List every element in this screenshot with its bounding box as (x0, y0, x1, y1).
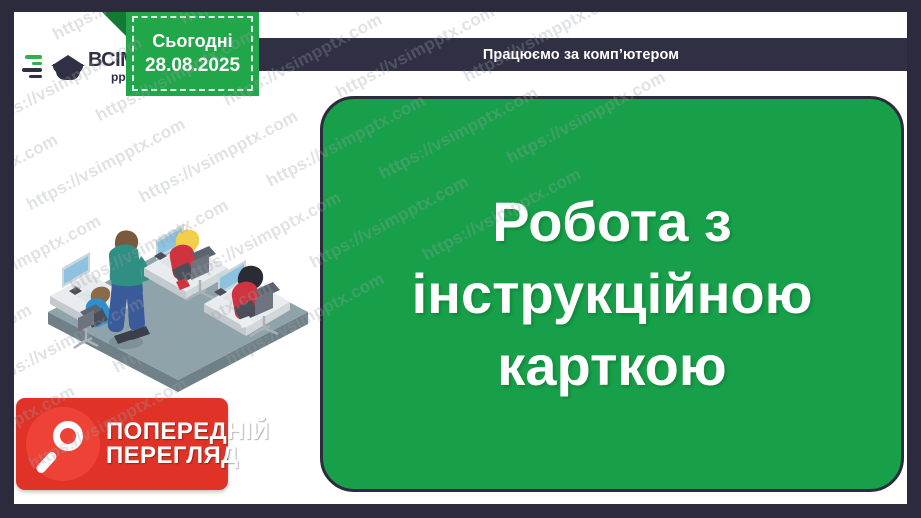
slide-header-title: Працюємо за комп’ютером (483, 47, 679, 63)
card-line-1: Робота з (492, 189, 732, 255)
slide-canvas: Робота з інструкційною карткою Працюємо … (14, 12, 907, 504)
brand-logo-block: ВСІМ pptx (14, 38, 138, 95)
slide-frame: Робота з інструкційною карткою Працюємо … (0, 0, 921, 518)
card-line-3: карткою (497, 333, 726, 399)
card-line-2: інструкційною (412, 261, 813, 327)
brand-logo: ВСІМ pptx (22, 50, 136, 83)
magnifier-icon (26, 407, 100, 481)
slide-header-bar: Працюємо за комп’ютером (255, 38, 907, 71)
preview-badge[interactable]: ПОПЕРЕДНІЙ ПЕРЕГЛЯД (16, 398, 228, 490)
speed-lines-icon (22, 55, 48, 78)
date-value: 28.08.2025 (145, 55, 240, 77)
watermark-text: https://vsimpptx.com (289, 12, 455, 21)
ribbon-fold-decoration (102, 12, 128, 38)
preview-badge-text: ПОПЕРЕДНІЙ ПЕРЕГЛЯД (106, 420, 270, 469)
date-ribbon: Сьогодні 28.08.2025 (126, 12, 259, 96)
graduation-cap-icon (51, 51, 85, 83)
main-content-card: Робота з інструкційною карткою (320, 96, 904, 492)
computer-classroom-illustration (28, 192, 328, 407)
date-today-label: Сьогодні (152, 31, 232, 52)
preview-label-line-2: ПЕРЕГЛЯД (106, 444, 270, 468)
preview-label-line-1: ПОПЕРЕДНІЙ (106, 420, 270, 444)
